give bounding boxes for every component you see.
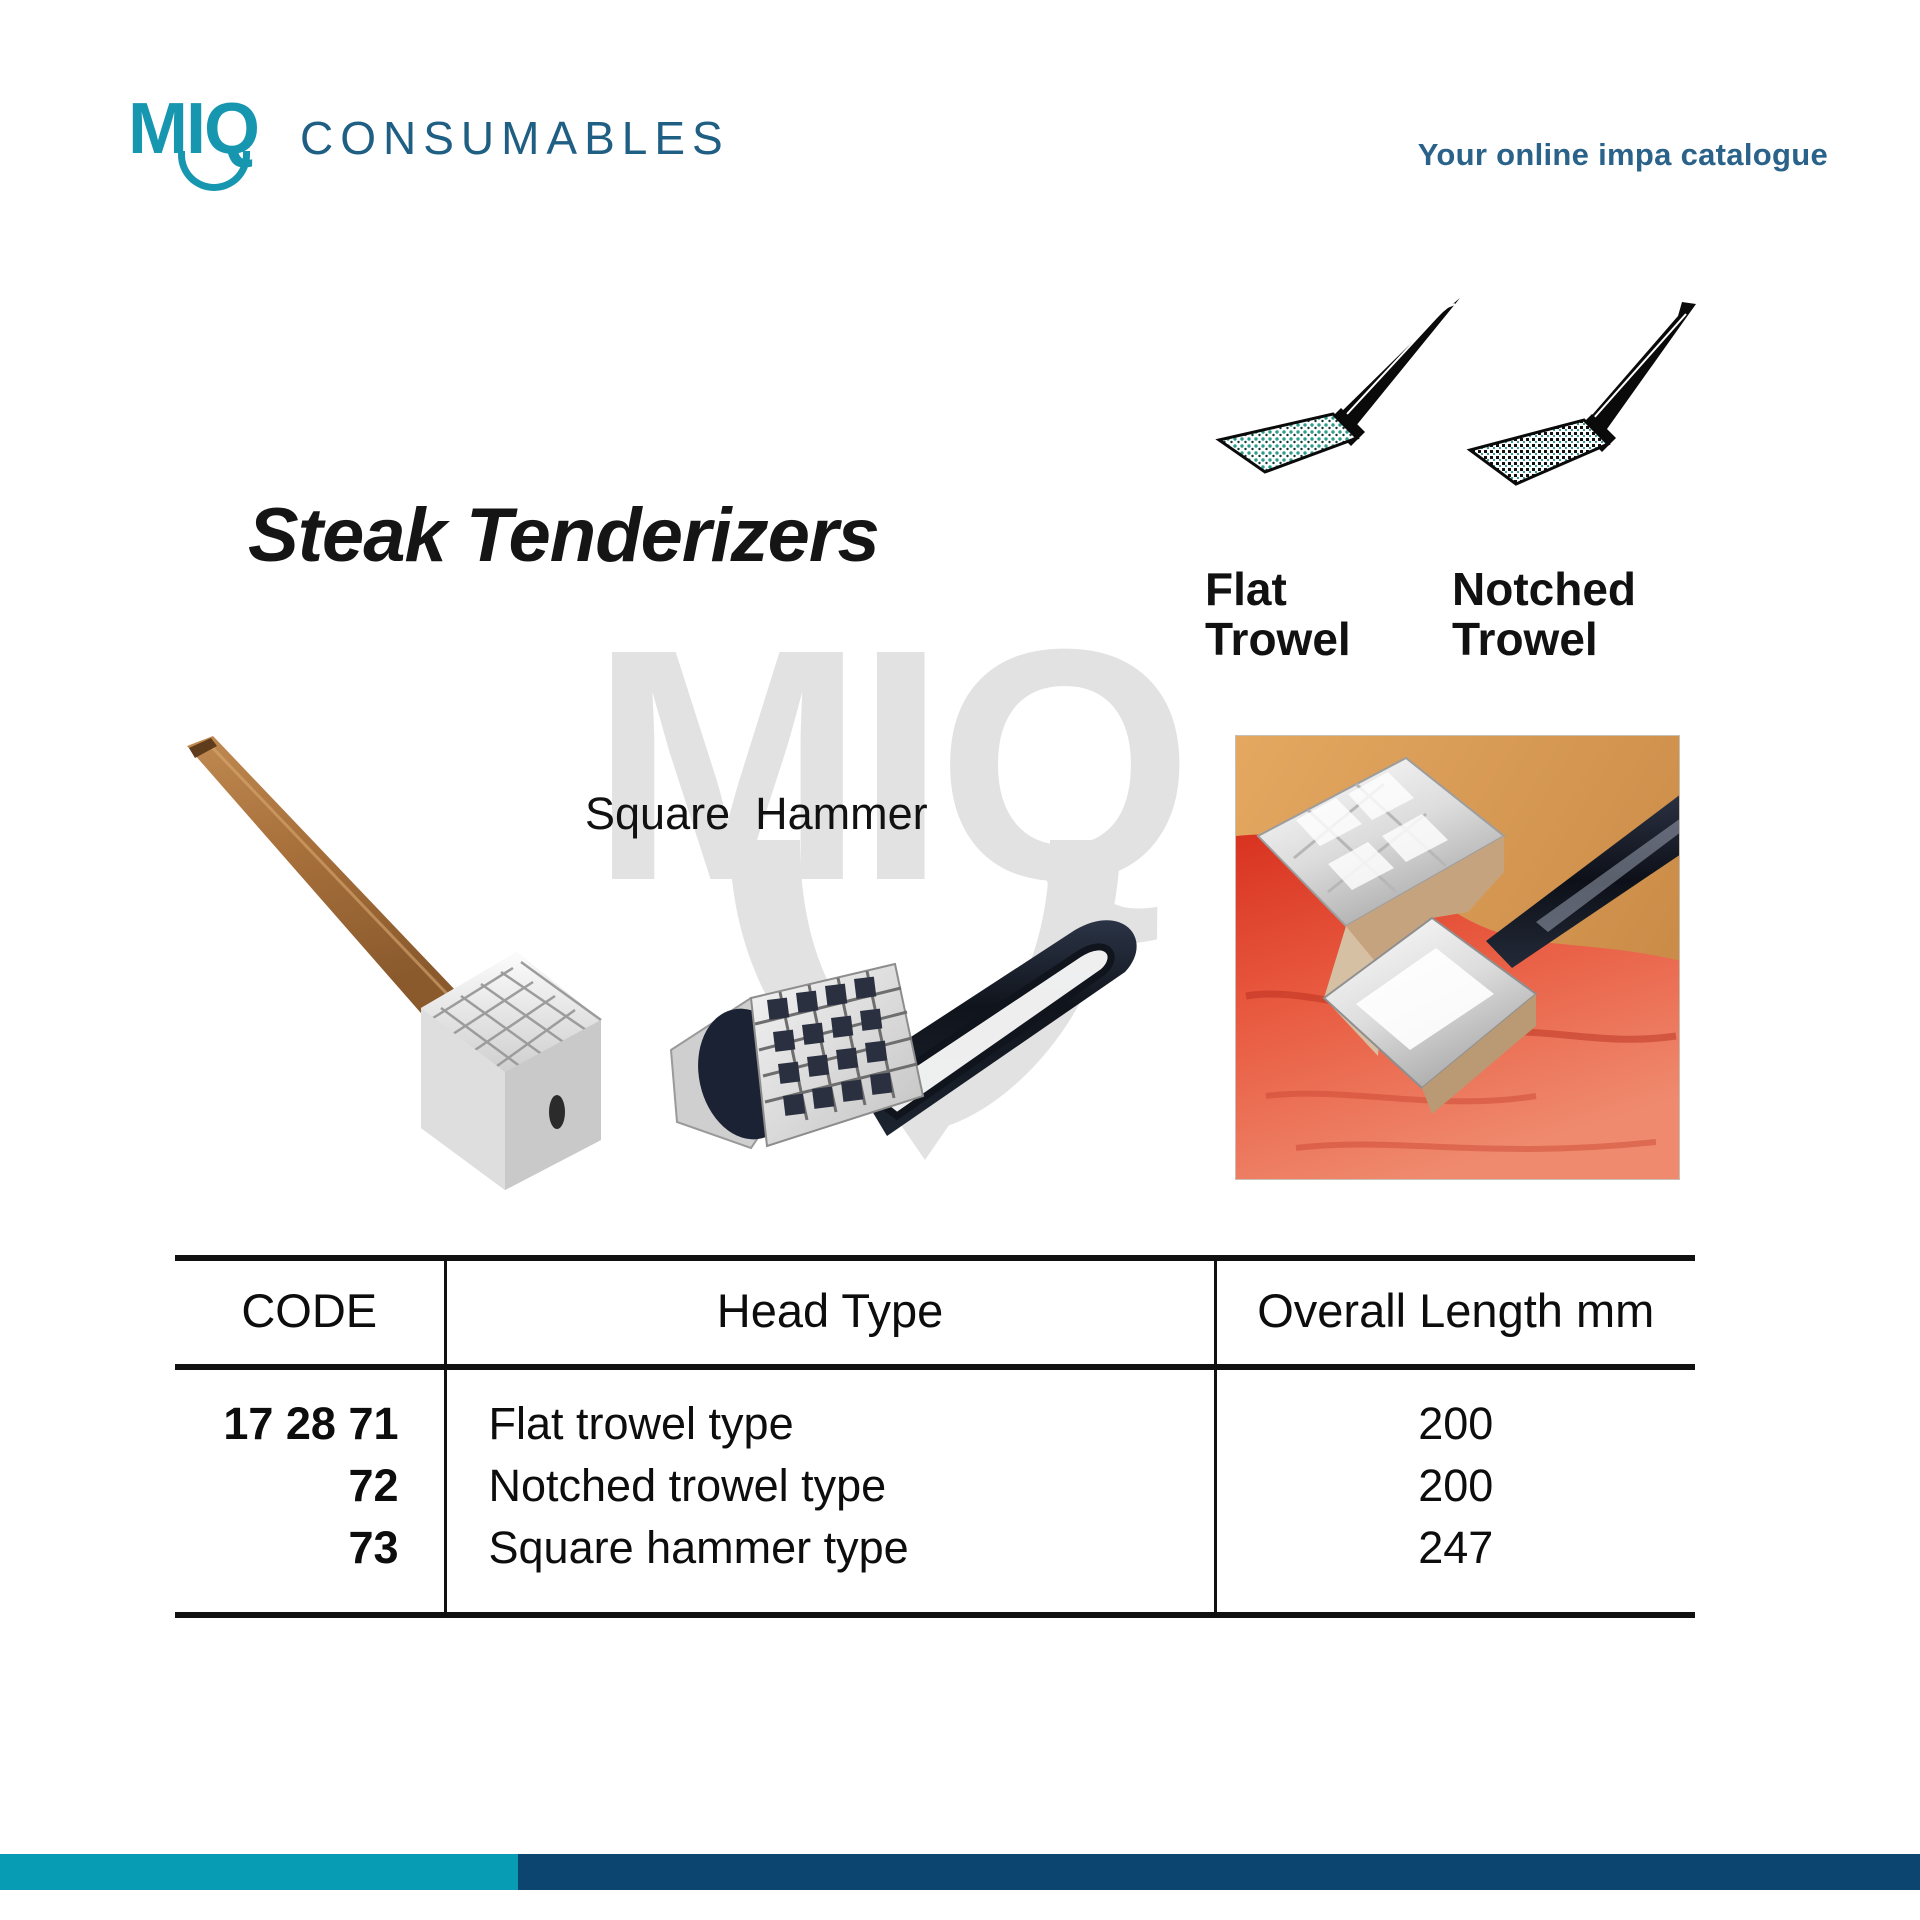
cell-code: 73 (175, 1517, 445, 1612)
spec-table: CODE Head Type Overall Length mm 17 28 7… (175, 1255, 1695, 1618)
table-bottom-rule (175, 1612, 1695, 1618)
table-header: CODE Head Type Overall Length mm (175, 1261, 1695, 1367)
smile-swoosh-icon (178, 151, 250, 191)
miq-logo-icon: MIQ (128, 95, 258, 163)
column-header-head-type: Head Type (445, 1261, 1215, 1367)
flat-trowel-label-line2: Trowel (1205, 615, 1351, 665)
wooden-mallet-image (165, 720, 625, 1240)
cell-length: 200 (1215, 1455, 1695, 1517)
square-hammer-image (655, 880, 1175, 1220)
cell-length: 247 (1215, 1517, 1695, 1612)
notched-trowel-label-line1: Notched (1452, 565, 1636, 615)
page-footer (0, 1854, 1920, 1890)
consumables-wordmark: CONSUMABLES (300, 111, 730, 165)
table-body: 17 28 71 Flat trowel type 200 72 Notched… (175, 1367, 1695, 1612)
column-header-length: Overall Length mm (1215, 1261, 1695, 1367)
footer-teal-bar (0, 1854, 518, 1890)
header-tagline: Your online impa catalogue (1418, 137, 1828, 173)
cell-head-type: Flat trowel type (445, 1367, 1215, 1455)
flat-trowel-label: Flat Trowel (1205, 565, 1351, 664)
table-row[interactable]: 73 Square hammer type 247 (175, 1517, 1695, 1612)
table-row[interactable]: 17 28 71 Flat trowel type 200 (175, 1367, 1695, 1455)
cell-head-type: Notched trowel type (445, 1455, 1215, 1517)
flat-trowel-label-line1: Flat (1205, 565, 1351, 615)
meat-photo-graphic (1236, 736, 1680, 1180)
table-header-row: CODE Head Type Overall Length mm (175, 1261, 1695, 1367)
cell-length: 200 (1215, 1367, 1695, 1455)
meat-photo (1235, 735, 1680, 1180)
table-row[interactable]: 72 Notched trowel type 200 (175, 1455, 1695, 1517)
notched-trowel-illustration (1460, 300, 1710, 490)
specifications-table: CODE Head Type Overall Length mm 17 28 7… (175, 1261, 1695, 1612)
brand-logo[interactable]: MIQ CONSUMABLES (128, 95, 730, 165)
notched-trowel-label-line2: Trowel (1452, 615, 1636, 665)
cell-code: 17 28 71 (175, 1367, 445, 1455)
column-header-code: CODE (175, 1261, 445, 1367)
footer-navy-bar (518, 1854, 1920, 1890)
page-header: MIQ CONSUMABLES Your online impa catalog… (0, 0, 1920, 230)
cell-head-type: Square hammer type (445, 1517, 1215, 1612)
notched-trowel-label: Notched Trowel (1452, 565, 1636, 664)
flat-trowel-illustration (1205, 290, 1475, 480)
cell-code: 72 (175, 1455, 445, 1517)
square-hammer-label: Square Hammer (585, 788, 928, 840)
page-title: Steak Tenderizers (248, 492, 879, 579)
